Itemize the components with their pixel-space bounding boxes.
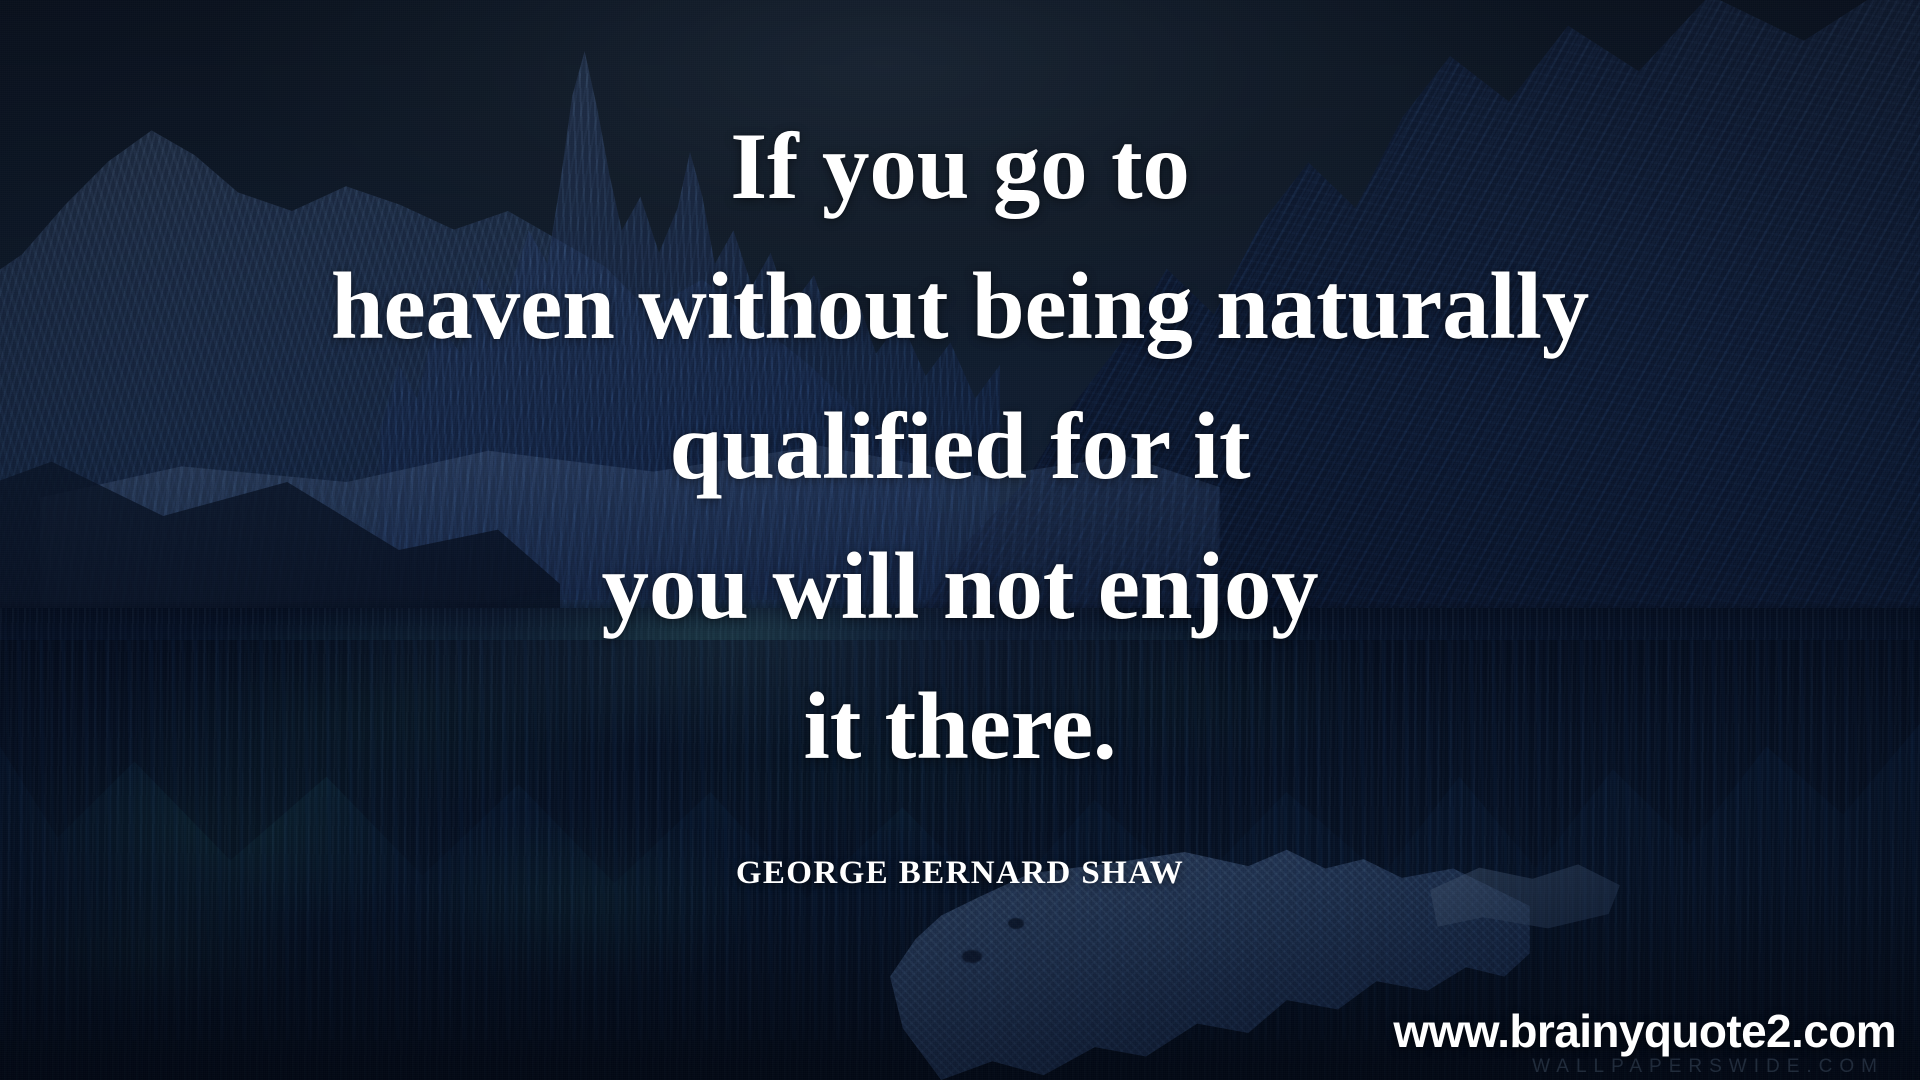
background-source-watermark: WALLPAPERSWIDE.COM [1532, 1056, 1884, 1078]
quote-author: GEORGE BERNARD SHAW [0, 855, 1920, 892]
quote-line-2: heaven without being naturally [0, 236, 1920, 376]
quote-text-block: If you go to heaven without being natura… [0, 96, 1920, 796]
quote-line-3: qualified for it [0, 376, 1920, 516]
quote-line-4: you will not enjoy [0, 516, 1920, 656]
quote-image-card: If you go to heaven without being natura… [0, 0, 1920, 1080]
site-watermark: www.brainyquote2.com [1393, 1004, 1896, 1058]
quote-line-1: If you go to [0, 96, 1920, 236]
quote-line-5: it there. [0, 656, 1920, 796]
overlay-content: If you go to heaven without being natura… [0, 0, 1920, 1080]
